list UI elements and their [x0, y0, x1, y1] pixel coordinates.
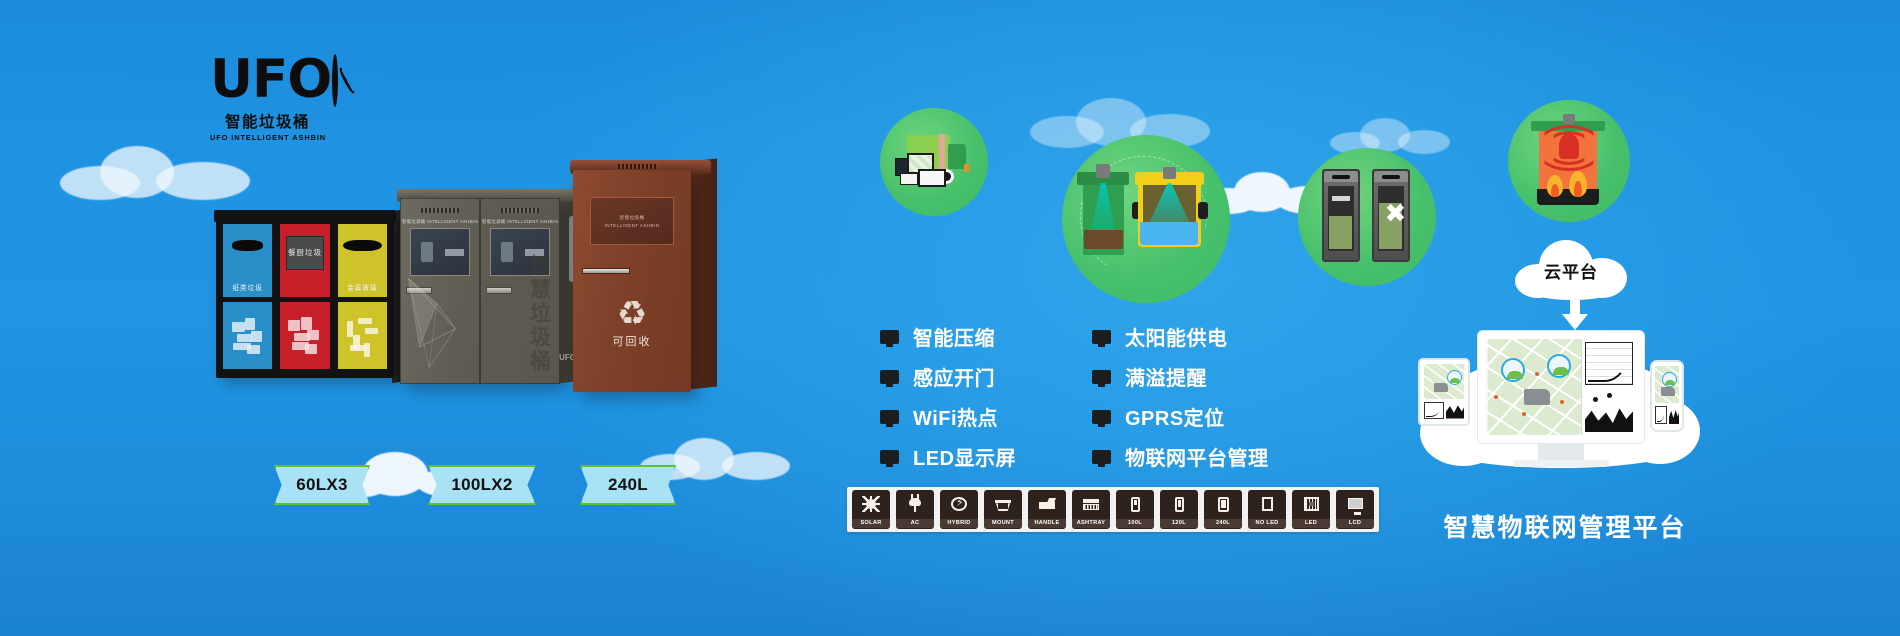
map-truck-marker — [1661, 387, 1675, 396]
ufo-ring-icon — [332, 54, 338, 107]
bin-vent — [421, 208, 458, 213]
blank-panel-icon — [1248, 490, 1286, 519]
spec-label: 240L — [1204, 519, 1242, 528]
handle-icon — [1028, 490, 1066, 519]
product-bin-240l: 智能垃圾桶 INTELLIGENT ASHBIN ♻ 可回收 — [573, 170, 691, 392]
screen-text-block — [445, 249, 464, 256]
compartment-lower — [221, 299, 274, 371]
cloud-platform-label: 云平台 — [1515, 258, 1627, 283]
map-truck-marker — [1434, 383, 1448, 392]
spec-label: HYBRID — [940, 519, 978, 528]
spec-option-100l[interactable]: 100L — [1116, 490, 1154, 529]
logo-wordmark: UFO — [210, 55, 331, 105]
bin-side-text: 智慧垃圾桶 — [524, 254, 554, 374]
map-pin — [1560, 400, 1564, 404]
cloud-decoration — [1330, 118, 1450, 154]
map-pin — [1522, 412, 1526, 416]
ring-inner-arc — [338, 66, 357, 94]
logo-english-name: UFO INTELLIGENT ASHBIN — [210, 133, 325, 142]
waste-slot-icon — [343, 240, 382, 251]
capacity-badge-100lx2: 100LX2 — [428, 465, 536, 505]
spec-option-240l[interactable]: 240L — [1204, 490, 1242, 529]
bin-fire-alarm-icon — [1519, 111, 1619, 211]
feature-label: 感应开门 — [913, 362, 995, 391]
line-chart-thumb — [1424, 402, 1444, 419]
feature-label: WiFi热点 — [913, 402, 998, 431]
bin-compartment-blue: 纸类垃圾 — [221, 222, 274, 371]
spec-option-handle[interactable]: HANDLE — [1028, 490, 1066, 529]
feature-label: 物联网平台管理 — [1125, 442, 1269, 471]
spec-option-ashtray[interactable]: ASHTRAY — [1072, 490, 1110, 529]
monitor-bezel — [1477, 330, 1645, 444]
spec-option-solar[interactable]: SOLAR — [852, 490, 890, 529]
bin-door-left: 智能垃圾桶 INTELLIGENT ASHBIN — [400, 198, 480, 384]
tablet-charts — [1424, 402, 1464, 419]
bin-120l-icon — [1160, 490, 1198, 519]
feature-circle-overflow-detection — [1062, 135, 1230, 303]
compartment-label: 纸类垃圾 — [223, 282, 272, 292]
recycle-icon: ♻ — [573, 297, 691, 331]
bin-display-screen: 智能垃圾桶 INTELLIGENT ASHBIN — [590, 197, 675, 246]
feature-circle-fleet-dispatch — [880, 108, 988, 216]
bin-240l-icon — [1204, 490, 1242, 519]
bin-fill-level-sensor-icon — [1077, 150, 1215, 288]
bin-vent — [618, 164, 657, 169]
spec-label: 100L — [1116, 519, 1154, 528]
monitor-icon — [880, 450, 899, 464]
phone-charts — [1655, 406, 1679, 424]
bin-handle[interactable] — [582, 268, 629, 274]
map-bin-marker — [1547, 354, 1571, 378]
feature-label: LED显示屏 — [913, 442, 1016, 471]
litter-graphic — [343, 312, 382, 360]
feature-item: 满溢提醒 — [1092, 362, 1269, 391]
bin-body: 纸类垃圾 餐厨垃圾 — [216, 218, 394, 378]
monitor-icon — [1092, 370, 1111, 384]
smartphone-device — [1650, 360, 1684, 432]
feature-list: 智能压缩 感应开门 WiFi热点 LED显示屏 太阳能供电 满溢提醒 — [880, 322, 1269, 471]
bin-body: 智能垃圾桶 INTELLIGENT ASHBIN — [400, 198, 560, 384]
spec-label: HANDLE — [1028, 519, 1066, 528]
lcd-screen-icon — [1336, 490, 1374, 519]
map-truck-marker — [1524, 389, 1550, 405]
feature-circle-compression: ✖ — [1298, 148, 1436, 286]
monitor-screen — [1486, 339, 1636, 435]
monitor-icon — [1092, 450, 1111, 464]
screen-thumbnail — [501, 242, 514, 262]
spec-label: LCD — [1336, 519, 1374, 528]
monitor-icon — [880, 330, 899, 344]
spec-label: 120L — [1160, 519, 1198, 528]
monitor-icon — [880, 410, 899, 424]
area-chart-thumb — [1446, 402, 1464, 419]
bin-panel-text: 智能垃圾桶 INTELLIGENT ASHBIN — [481, 219, 559, 225]
compartment-label: 餐厨垃圾 — [288, 247, 322, 258]
feature-item: 智能压缩 — [880, 322, 1016, 351]
cloud-platform-bubble: 云平台 — [1515, 238, 1627, 300]
feature-label: 智能压缩 — [913, 322, 995, 351]
monitor-icon — [1092, 410, 1111, 424]
map-bin-marker — [1662, 372, 1677, 387]
feature-item: GPRS定位 — [1092, 402, 1269, 431]
compartment-label: 金属玻璃 — [338, 282, 387, 292]
product-bin-60lx3: 纸类垃圾 餐厨垃圾 — [216, 218, 394, 378]
capacity-badge-60lx3: 60LX3 — [274, 465, 370, 505]
spec-label: NO LED — [1248, 519, 1286, 528]
feature-item: 物联网平台管理 — [1092, 442, 1269, 471]
litter-graphic — [285, 312, 324, 360]
bin-handle[interactable] — [486, 287, 513, 294]
compartment-lower — [336, 299, 389, 371]
sun-icon — [852, 490, 890, 519]
spec-option-ac[interactable]: AC — [896, 490, 934, 529]
screen-line-2: INTELLIGENT ASHBIN — [605, 223, 660, 228]
dashboard-map — [1486, 339, 1581, 435]
spec-option-led[interactable]: LED — [1292, 490, 1330, 529]
ashtray-icon — [1072, 490, 1110, 519]
phone-map-view — [1655, 366, 1679, 403]
platform-title: 智慧物联网管理平台 — [1440, 508, 1690, 544]
feature-column-right: 太阳能供电 满溢提醒 GPRS定位 物联网平台管理 — [1092, 322, 1269, 471]
bin-vent — [501, 208, 538, 213]
monitor-stand — [1538, 444, 1584, 460]
capacity-badge-240l: 240L — [580, 465, 676, 505]
feature-column-left: 智能压缩 感应开门 WiFi热点 LED显示屏 — [880, 322, 1016, 471]
spec-label: SOLAR — [852, 519, 890, 528]
spec-label: LED — [1292, 519, 1330, 528]
spec-label: MOUNT — [984, 519, 1022, 528]
cloud-decoration — [60, 140, 250, 200]
feature-item: 太阳能供电 — [1092, 322, 1269, 351]
bin-body: 智能垃圾桶 INTELLIGENT ASHBIN ♻ 可回收 — [573, 170, 691, 392]
polygon-graphic — [403, 258, 458, 372]
garbage-truck-and-devices-icon — [890, 118, 979, 207]
spec-option-120l[interactable]: 120L — [1160, 490, 1198, 529]
monitor-icon — [880, 370, 899, 384]
feature-item: 感应开门 — [880, 362, 1016, 391]
spec-option-no-led[interactable]: NO LED — [1248, 490, 1286, 529]
recycle-label: 可回收 — [573, 333, 691, 349]
hybrid-bolt-icon: ⚡ — [940, 490, 978, 519]
compartment-upper: 餐厨垃圾 — [278, 222, 331, 299]
tablet-map-view — [1424, 364, 1464, 399]
compartment-upper: 金属玻璃 — [336, 222, 389, 299]
ring-teeth — [334, 56, 336, 105]
dashboard-charts — [1581, 339, 1636, 435]
compartment-lower — [278, 299, 331, 371]
led-panel-icon — [1292, 490, 1330, 519]
feature-label: 满溢提醒 — [1125, 362, 1207, 391]
screen-line-1: 智能垃圾桶 — [620, 215, 645, 221]
compartment-upper: 纸类垃圾 — [221, 222, 274, 299]
feature-label: 太阳能供电 — [1125, 322, 1228, 351]
map-pin — [1494, 395, 1498, 399]
bin-door-right: 智能垃圾桶 INTELLIGENT ASHBIN 智慧垃圾桶 — [480, 198, 560, 384]
monitor-base — [1513, 460, 1609, 467]
map-bin-marker — [1447, 370, 1462, 385]
desktop-monitor — [1477, 330, 1645, 467]
bin-panel-text: 智能垃圾桶 INTELLIGENT ASHBIN — [401, 219, 479, 225]
bin-100l-icon — [1116, 490, 1154, 519]
feature-item: WiFi热点 — [880, 402, 1016, 431]
area-chart-thumb — [1669, 406, 1679, 424]
brand-logo: UFO 智能垃圾桶 UFO INTELLIGENT ASHBIN — [210, 52, 325, 142]
spec-label: ASHTRAY — [1072, 519, 1110, 528]
line-chart — [1585, 342, 1633, 385]
map-bin-marker — [1501, 358, 1525, 382]
logo-chinese-name: 智能垃圾桶 — [210, 110, 325, 132]
spec-label: AC — [896, 519, 934, 528]
spec-option-strip: SOLAR AC ⚡ HYBRID MOUNT HANDLE ASHTRAY 1… — [847, 487, 1379, 532]
product-bin-100lx2: 智能垃圾桶 INTELLIGENT ASHBIN — [400, 198, 560, 384]
litter-graphic — [228, 312, 267, 360]
product-banner: UFO 智能垃圾桶 UFO INTELLIGENT ASHBIN 纸类垃圾 — [0, 0, 1900, 636]
recycle-marking: ♻ 可回收 — [573, 297, 691, 349]
feature-item: LED显示屏 — [880, 442, 1016, 471]
wall-mount-icon — [984, 490, 1022, 519]
compartment-panel: 餐厨垃圾 — [286, 236, 324, 270]
bin-side-panel — [689, 159, 717, 390]
twin-bin-compression-icon: ✖ — [1310, 160, 1423, 273]
spec-option-mount[interactable]: MOUNT — [984, 490, 1022, 529]
spec-option-lcd[interactable]: LCD — [1336, 490, 1374, 529]
line-chart-thumb — [1655, 406, 1667, 424]
feature-label: GPRS定位 — [1125, 402, 1225, 431]
feature-circle-fire-alarm — [1508, 100, 1630, 222]
spec-option-hybrid[interactable]: ⚡ HYBRID — [940, 490, 978, 529]
logo-wordmark-row: UFO — [210, 52, 325, 108]
area-chart — [1585, 391, 1633, 432]
map-pin — [1535, 372, 1539, 376]
tablet-device — [1418, 358, 1470, 426]
power-plug-icon — [896, 490, 934, 519]
waste-slot-icon — [232, 240, 264, 251]
bin-compartment-yellow: 金属玻璃 — [336, 222, 389, 371]
bin-compartment-red: 餐厨垃圾 — [278, 222, 331, 371]
monitor-icon — [1092, 330, 1111, 344]
